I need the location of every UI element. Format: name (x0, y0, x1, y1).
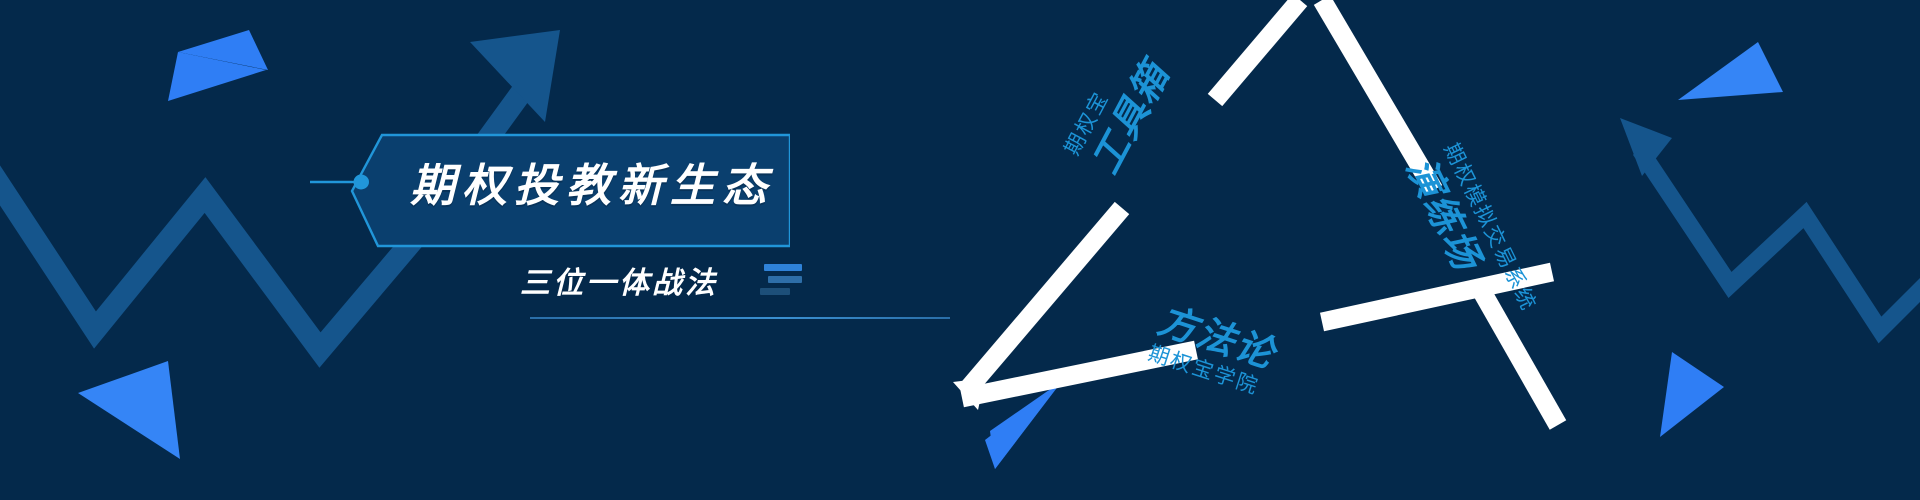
promo-banner: 期权投教新生态 三位一体战法 期权宝 工具箱 期权模拟交易系统 演练场 方法论 … (0, 0, 1920, 500)
three-bars-icon (760, 264, 802, 298)
subtitle: 三位一体战法 (520, 258, 718, 302)
title-connector (0, 0, 1920, 500)
connector-dot-outer (354, 175, 369, 190)
subtitle-row: 三位一体战法 (520, 258, 820, 308)
subtitle-divider (530, 317, 950, 319)
